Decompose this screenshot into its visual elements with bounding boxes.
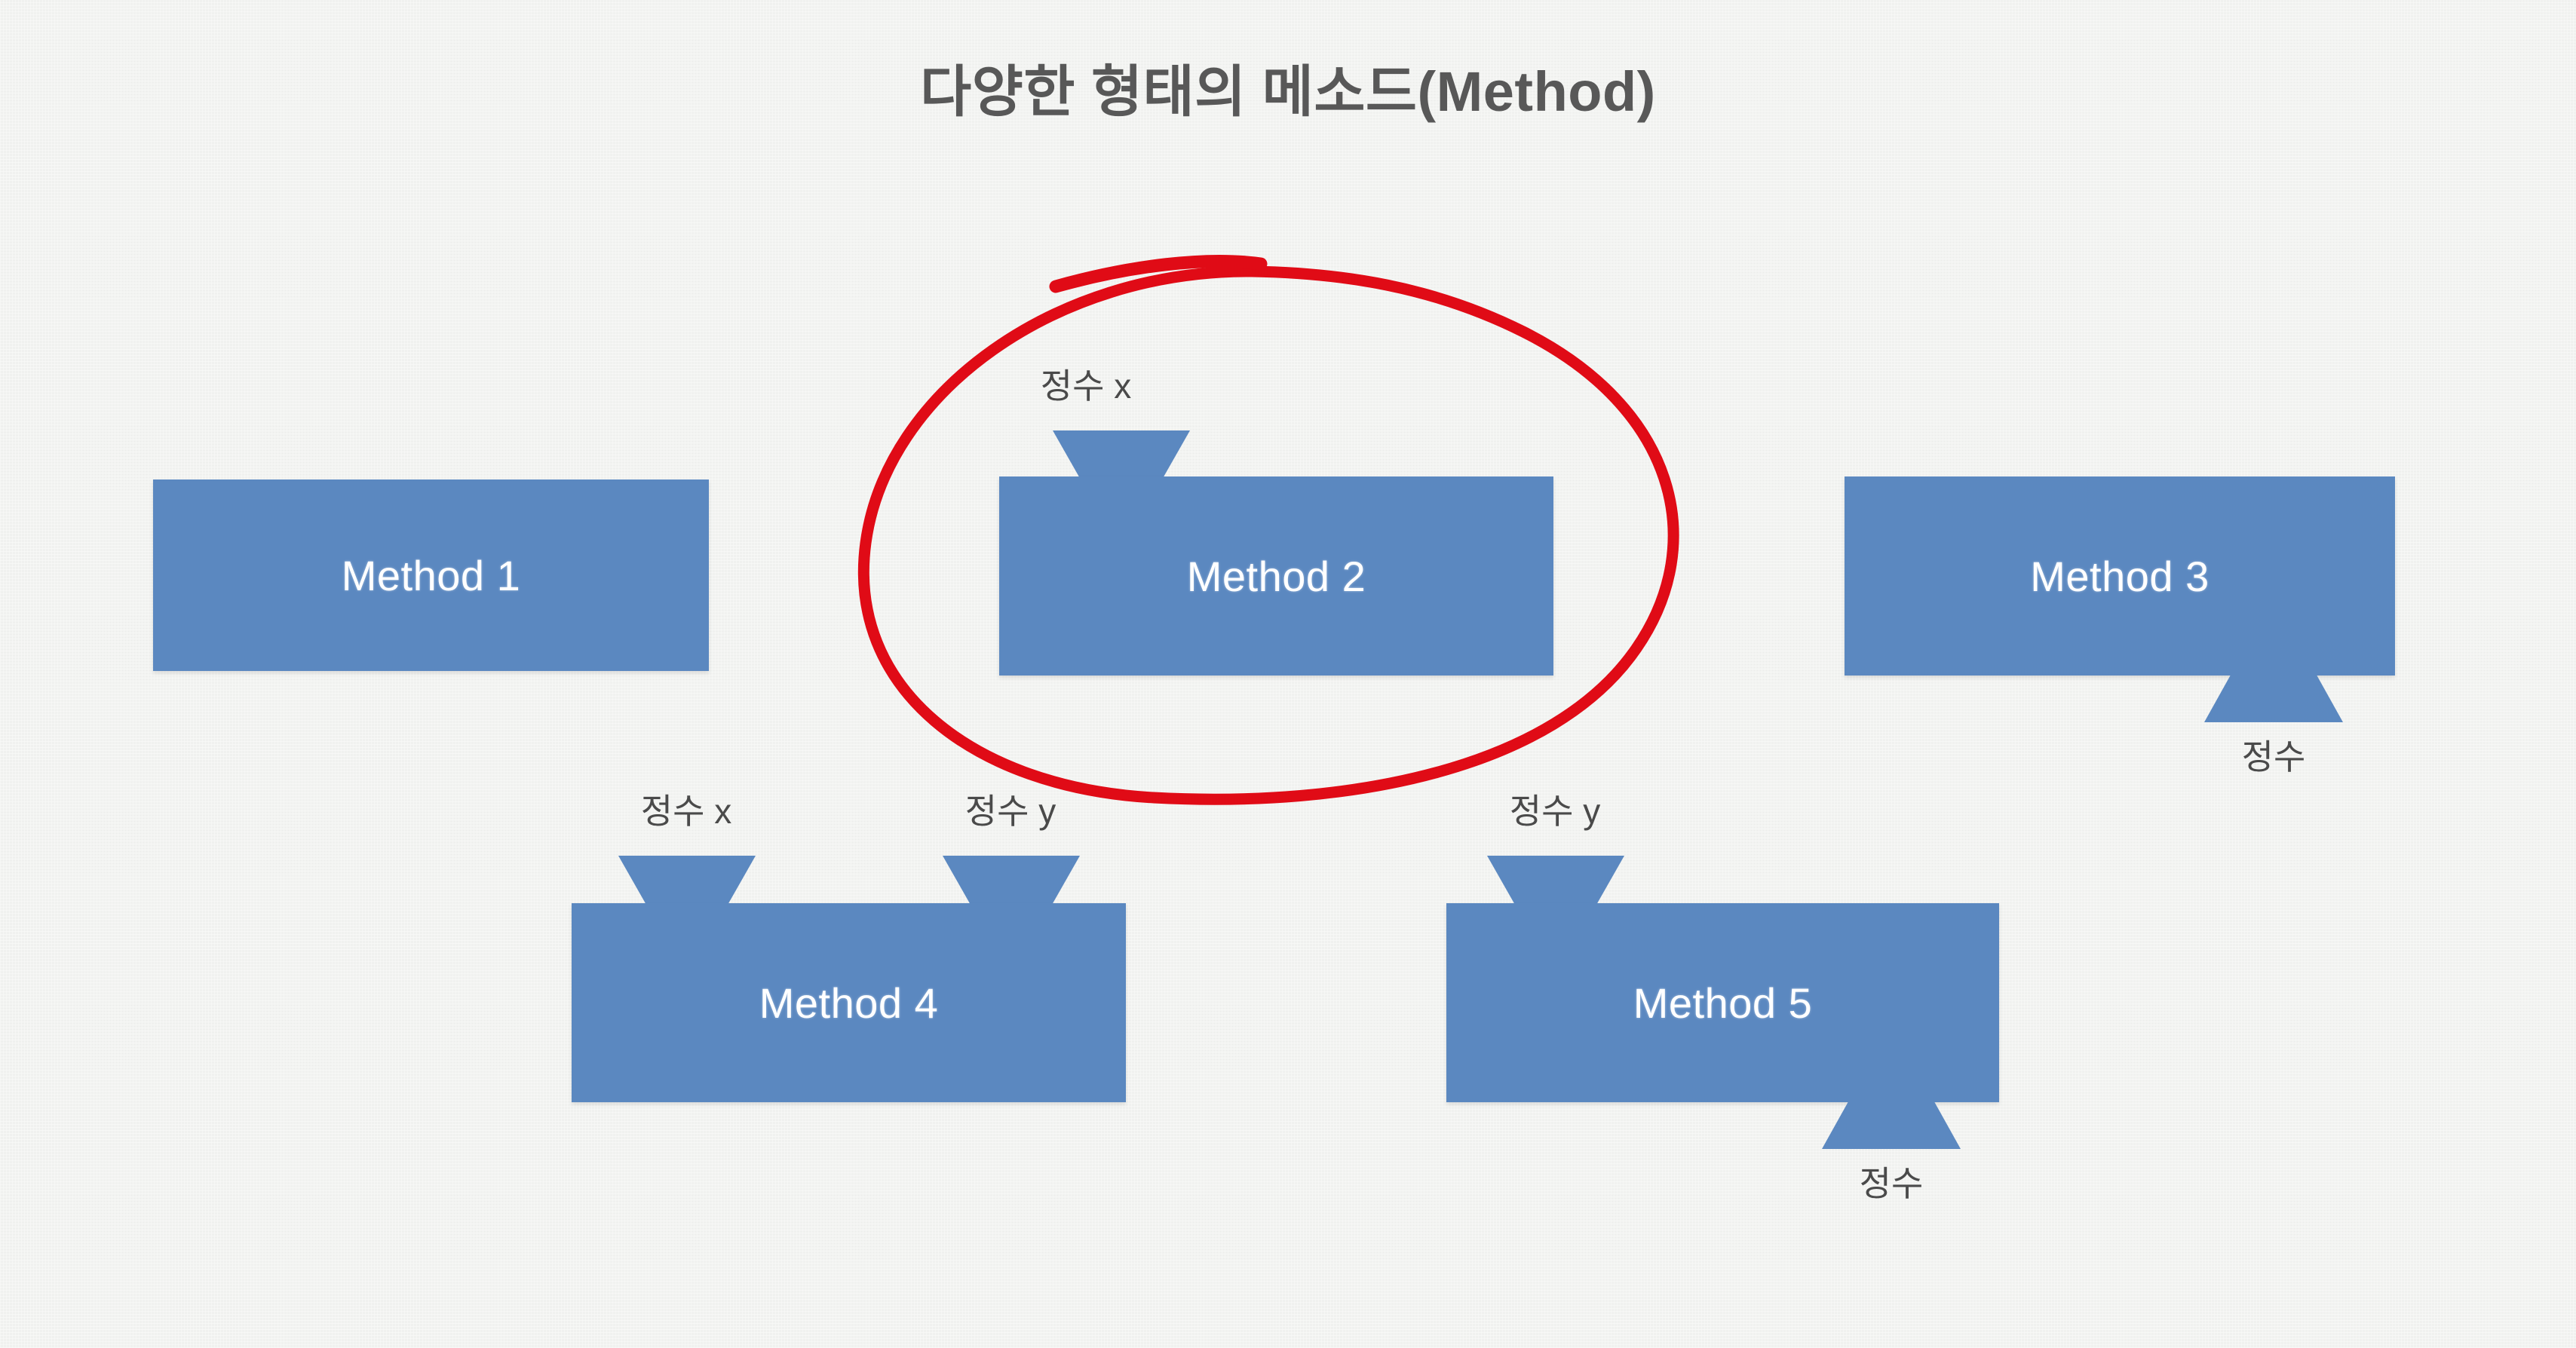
method-5-label: Method 5 xyxy=(1633,979,1813,1028)
method-4-input-arrow-0-icon xyxy=(618,856,756,904)
method-4-label: Method 4 xyxy=(759,979,939,1028)
method-2-label: Method 2 xyxy=(1187,552,1366,601)
method-4-input-label-0: 정수 x xyxy=(581,784,792,834)
page-title: 다양한 형태의 메소드(Method) xyxy=(0,47,2576,127)
method-3-box[interactable]: Method 3 xyxy=(1845,476,2395,676)
method-1-label: Method 1 xyxy=(342,551,521,600)
method-5-input-label-0: 정수 y xyxy=(1449,784,1661,834)
method-5-input-arrow-0-icon xyxy=(1487,856,1624,904)
method-4-box[interactable]: Method 4 xyxy=(572,903,1126,1102)
method-2-input-label-0: 정수 x xyxy=(980,359,1191,409)
method-3-output-label-0: 정수 xyxy=(2168,730,2379,780)
method-3-label: Method 3 xyxy=(2030,552,2210,601)
method-4-input-arrow-1-icon xyxy=(943,856,1080,904)
method-2-box[interactable]: Method 2 xyxy=(999,476,1553,676)
method-5-output-arrow-0-icon xyxy=(1822,1099,1961,1149)
method-5-output-label-0: 정수 xyxy=(1786,1157,1997,1206)
method-3-output-arrow-0-icon xyxy=(2204,672,2343,722)
method-5-box[interactable]: Method 5 xyxy=(1446,903,1999,1102)
method-4-input-label-1: 정수 y xyxy=(905,784,1116,834)
method-2-input-arrow-0-icon xyxy=(1053,430,1190,479)
slide-canvas: 다양한 형태의 메소드(Method) Method 1 정수 x Method… xyxy=(0,0,2576,1348)
method-1-box[interactable]: Method 1 xyxy=(153,479,709,671)
